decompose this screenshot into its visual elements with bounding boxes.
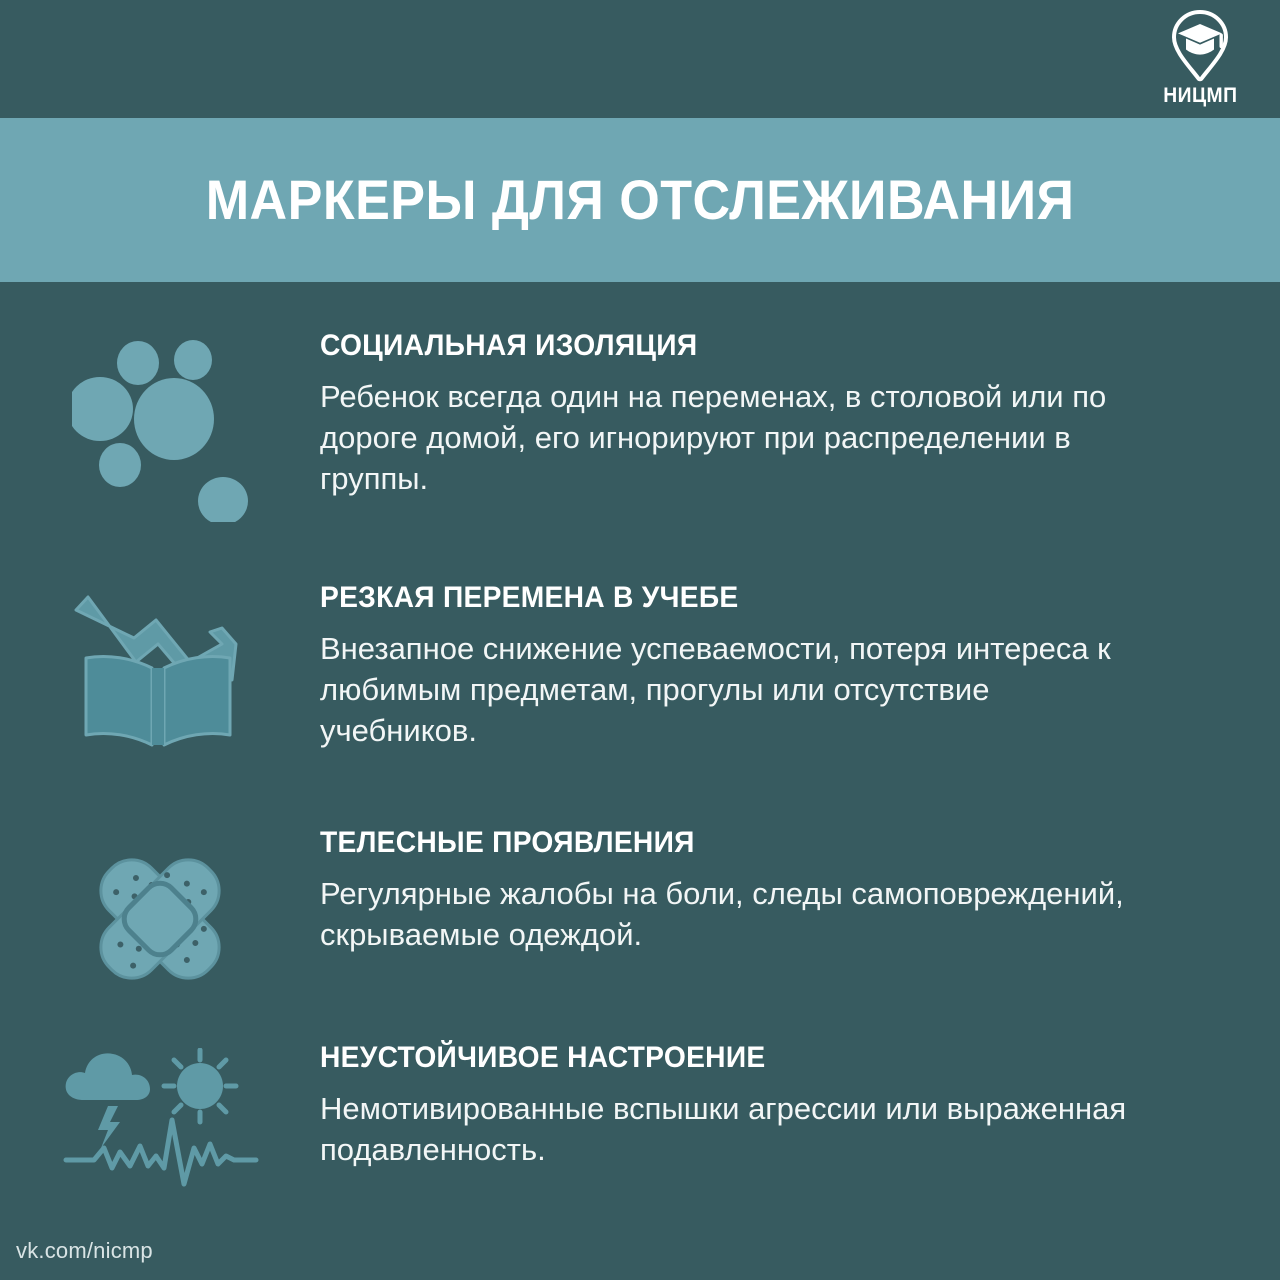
list-item-heading: РЕЗКАЯ ПЕРЕМЕНА В УЧЕБЕ — [320, 582, 1110, 614]
list-item-body: Регулярные жалобы на боли, следы самопов… — [320, 873, 1150, 955]
list-item-body: Немотивированные вспышки агрессии или вы… — [320, 1088, 1150, 1170]
list-item-icon-cell — [0, 330, 320, 522]
list-item-icon-cell — [0, 1042, 320, 1188]
list-item: НЕУСТОЙЧИВОЕ НАСТРОЕНИЕ Немотивированные… — [0, 1042, 1280, 1188]
list-item-body: Ребенок всегда один на переменах, в стол… — [320, 376, 1150, 500]
storm-sun-heartbeat-icon — [60, 1048, 260, 1188]
list-item-text-cell: НЕУСТОЙЧИВОЕ НАСТРОЕНИЕ Немотивированные… — [320, 1042, 1280, 1170]
list-item-text-cell: РЕЗКАЯ ПЕРЕМЕНА В УЧЕБЕ Внезапное снижен… — [320, 582, 1280, 751]
list-item-icon-cell — [0, 827, 320, 1005]
footer-link[interactable]: vk.com/nicmp — [16, 1238, 153, 1264]
list-item-text-cell: ТЕЛЕСНЫЕ ПРОЯВЛЕНИЯ Регулярные жалобы на… — [320, 827, 1280, 955]
list-item: ТЕЛЕСНЫЕ ПРОЯВЛЕНИЯ Регулярные жалобы на… — [0, 827, 1280, 1005]
list-item-heading: НЕУСТОЙЧИВОЕ НАСТРОЕНИЕ — [320, 1042, 1110, 1074]
list-item-body: Внезапное снижение успеваемости, потеря … — [320, 628, 1150, 752]
list-item-text-cell: СОЦИАЛЬНАЯ ИЗОЛЯЦИЯ Ребенок всегда один … — [320, 330, 1280, 499]
list-item-heading: СОЦИАЛЬНАЯ ИЗОЛЯЦИЯ — [320, 330, 1110, 362]
page-title: МАРКЕРЫ ДЛЯ ОТСЛЕЖИВАНИЯ — [206, 172, 1075, 228]
list-item: СОЦИАЛЬНАЯ ИЗОЛЯЦИЯ Ребенок всегда один … — [0, 330, 1280, 522]
brand-logo-text: НИЦМП — [1163, 85, 1237, 106]
title-band: МАРКЕРЫ ДЛЯ ОТСЛЕЖИВАНИЯ — [0, 118, 1280, 282]
crossed-bandages-icon — [74, 833, 246, 1005]
list-item: РЕЗКАЯ ПЕРЕМЕНА В УЧЕБЕ Внезапное снижен… — [0, 582, 1280, 760]
list-item-heading: ТЕЛЕСНЫЕ ПРОЯВЛЕНИЯ — [320, 827, 1110, 859]
book-declining-arrow-icon — [74, 588, 246, 760]
top-bar: НИЦМП — [0, 0, 1280, 118]
graduation-cap-pin-icon — [1162, 8, 1238, 84]
marker-list: СОЦИАЛЬНАЯ ИЗОЛЯЦИЯ Ребенок всегда один … — [0, 282, 1280, 1222]
scattered-dots-icon — [72, 336, 248, 522]
brand-logo: НИЦМП — [1148, 8, 1252, 114]
list-item-icon-cell — [0, 582, 320, 760]
